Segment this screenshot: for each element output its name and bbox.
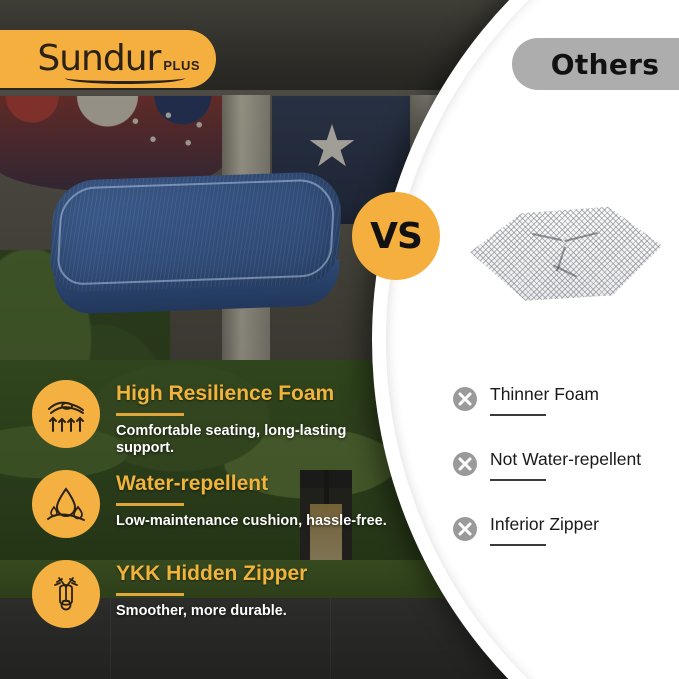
feature-subtitle: Smoother, more durable. [116,603,392,620]
drawback-text-block: Not Water-repellent [490,449,676,481]
versus-badge: VS [352,192,440,280]
drawback-underline [490,544,546,546]
cushion-fabric-weave [49,171,344,293]
cushion-top-surface [49,171,344,293]
others-badge: Others [512,38,679,90]
comparison-infographic: Sundur PLUS Others VS [0,0,679,679]
drawback-text-block: Thinner Foam [490,384,676,416]
brand-logo: Sundur PLUS [37,41,200,77]
our-features-list: High Resilience Foam Comfortable seating… [32,376,392,646]
feature-underline [116,413,184,416]
feature-item-ykk-hidden-zipper: YKK Hidden Zipper Smoother, more durable… [32,556,392,646]
feature-item-high-resilience-foam: High Resilience Foam Comfortable seating… [32,376,392,466]
drawback-underline [490,414,546,416]
competitor-product-image-tufted-pad [466,196,664,304]
brand-suffix: PLUS [163,58,200,73]
feature-title: YKK Hidden Zipper [116,562,392,586]
feature-text-block: YKK Hidden Zipper Smoother, more durable… [116,562,392,620]
drawback-title: Inferior Zipper [490,514,676,535]
x-circle-icon [452,451,478,477]
drawback-title: Thinner Foam [490,384,676,405]
zipper-icon [32,560,100,628]
water-droplet-icon [32,470,100,538]
feature-title: High Resilience Foam [116,382,392,406]
logo-swoosh-underline [65,72,185,84]
feature-subtitle: Comfortable seating, long-lasting suppor… [116,423,392,458]
drawback-text-block: Inferior Zipper [490,514,676,546]
feature-underline [116,593,184,596]
drawback-underline [490,479,546,481]
feature-underline [116,503,184,506]
drawback-item-not-water-repellent: Not Water-repellent [452,449,676,514]
feature-item-water-repellent: Water-repellent Low-maintenance cushion,… [32,466,392,556]
feature-subtitle: Low-maintenance cushion, hassle-free. [116,513,392,530]
brand-logo-badge[interactable]: Sundur PLUS [0,30,216,88]
our-product-image-navy-cushion [46,176,346,326]
x-circle-icon [452,516,478,542]
x-circle-icon [452,386,478,412]
drawback-title: Not Water-repellent [490,449,676,470]
foam-resilience-icon [32,380,100,448]
drawback-item-thinner-foam: Thinner Foam [452,384,676,449]
feature-text-block: High Resilience Foam Comfortable seating… [116,382,392,457]
feature-text-block: Water-repellent Low-maintenance cushion,… [116,472,392,530]
versus-label: VS [370,216,422,257]
competitor-drawbacks-list: Thinner Foam Not Water-repellent [452,384,676,579]
tufted-pad-body [466,196,664,304]
others-label: Others [551,48,659,81]
drawback-item-inferior-zipper: Inferior Zipper [452,514,676,579]
feature-title: Water-repellent [116,472,392,496]
